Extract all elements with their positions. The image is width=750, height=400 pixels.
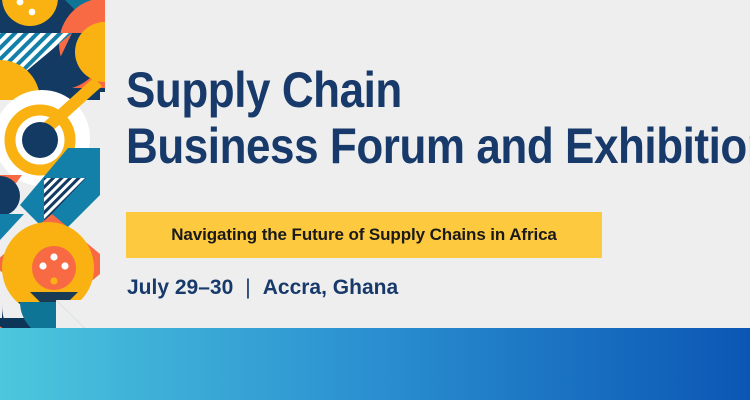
page-title: Supply Chain Business Forum and Exhibiti… xyxy=(126,62,750,174)
event-details: July 29–30 | Accra, Ghana xyxy=(127,276,398,300)
event-location: Accra, Ghana xyxy=(263,276,398,300)
pattern-magnifier-lens xyxy=(22,122,58,158)
event-details-separator: | xyxy=(245,276,250,300)
tagline-banner: Navigating the Future of Supply Chains i… xyxy=(126,212,602,258)
bottom-gradient-bar xyxy=(0,328,750,400)
tagline-text: Navigating the Future of Supply Chains i… xyxy=(171,225,557,245)
banner-content: Supply Chain Business Forum and Exhibiti… xyxy=(126,0,726,330)
page-title-line-1: Supply Chain xyxy=(126,62,750,118)
page-title-line-2: Business Forum and Exhibition xyxy=(126,118,750,174)
event-banner: Supply Chain Business Forum and Exhibiti… xyxy=(0,0,750,400)
event-dates: July 29–30 xyxy=(127,276,233,300)
